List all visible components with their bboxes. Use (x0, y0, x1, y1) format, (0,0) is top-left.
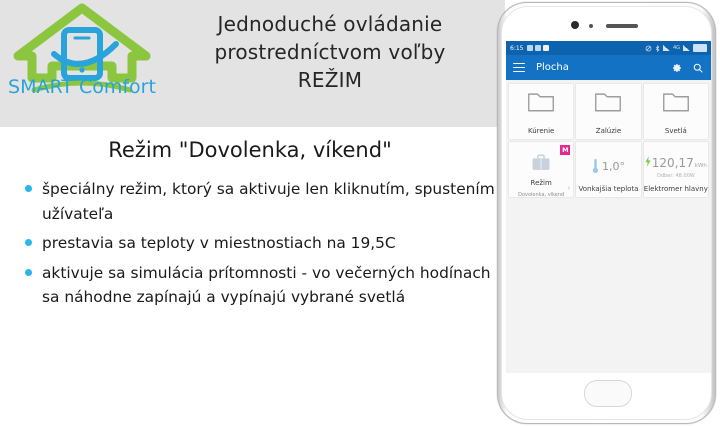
search-icon[interactable] (692, 62, 704, 74)
temperature-value: 1,0° (602, 160, 625, 173)
tile-elektromer[interactable]: 120,17 kWh Odber: 48.00W Elektromer hlav… (644, 142, 708, 197)
folder-icon (594, 90, 622, 114)
phone-mockup: 6:15 (497, 2, 716, 424)
network-type-label: 4G (673, 45, 680, 51)
temperature-readout: 1,0° (592, 158, 625, 174)
folder-icon (662, 90, 690, 114)
status-bar-system-icons: 4G (645, 44, 707, 52)
folder-icon (527, 90, 555, 114)
earpiece-speaker-icon (606, 24, 638, 28)
slide-title: Režim "Dovolenka, víkend" (0, 138, 500, 162)
front-camera-icon (571, 21, 579, 29)
tile-vonkajsia-teplota[interactable]: 1,0° Vonkajšia teplota (576, 142, 640, 197)
energy-readout: 120,17 kWh (645, 156, 707, 170)
tile-label: Elektromer hlavny (644, 185, 708, 193)
tile-label: Žalúzie (576, 127, 640, 135)
signal-bars-icon-secondary (683, 45, 690, 51)
presentation-slide: SMART Comfort Jednoduché ovládanie prost… (0, 0, 720, 426)
header-title-line2: prostredníctvom voľby (160, 38, 500, 66)
suitcase-icon (530, 153, 552, 173)
alarm-off-icon (645, 45, 652, 52)
list-item-text: aktivuje sa simulácia prítomnosti - vo v… (42, 264, 491, 307)
chevron-right-icon[interactable]: › (568, 184, 571, 192)
list-item: špeciálny režim, ktorý sa aktivuje len k… (22, 177, 500, 226)
header-title: Jednoduché ovládanie prostredníctvom voľ… (160, 10, 500, 94)
energy-sub-value: Odber: 48.00W (657, 173, 695, 179)
phone-screen: 6:15 (506, 41, 711, 373)
tile-kurenie[interactable]: Kúrenie (509, 84, 573, 139)
phone-top-bezel (502, 7, 711, 41)
calendar-notification-icon (543, 45, 549, 51)
bullet-dot-icon (25, 239, 32, 246)
home-button[interactable] (584, 380, 632, 407)
energy-unit: kWh (695, 163, 707, 169)
tile-grid: Kúrenie Žalúzie Svetlá (506, 80, 711, 197)
status-bar-notification-icons (527, 45, 549, 51)
tile-sublabel: Dovolenka, víkend (509, 192, 573, 198)
list-item: aktivuje sa simulácia prítomnosti - vo v… (22, 261, 500, 310)
bullet-list: špeciálny režim, ktorý sa aktivuje len k… (22, 177, 500, 315)
status-bar-time: 6:15 (510, 45, 523, 52)
thermometer-icon (592, 158, 599, 174)
phone-body: 6:15 (501, 6, 712, 420)
bullet-dot-icon (25, 185, 32, 192)
tile-row-folders: Kúrenie Žalúzie Svetlá (509, 84, 708, 139)
tile-label: Svetlá (644, 127, 708, 135)
logo-text: SMART Comfort (4, 76, 160, 98)
status-bar: 6:15 (506, 41, 711, 55)
gear-icon[interactable] (671, 62, 683, 74)
header-title-line1: Jednoduché ovládanie (160, 10, 500, 38)
logo: SMART Comfort (4, 2, 160, 106)
hamburger-menu-icon[interactable] (513, 63, 525, 73)
list-item-text: špeciálny režim, ktorý sa aktivuje len k… (42, 180, 495, 223)
bullet-dot-icon (25, 269, 32, 276)
tile-zaluzie[interactable]: Žalúzie (576, 84, 640, 139)
tile-label: Kúrenie (509, 127, 573, 135)
header-title-line3: REŽIM (160, 66, 500, 94)
bluetooth-icon (527, 45, 533, 51)
list-item-text: prestavia sa teploty v miestnostiach na … (42, 234, 396, 252)
list-item: prestavia sa teploty v miestnostiach na … (22, 231, 500, 256)
signal-bars-icon (663, 45, 670, 51)
proximity-sensor-icon (589, 24, 593, 28)
bluetooth-icon (655, 45, 660, 52)
app-notification-icon (535, 45, 541, 51)
tile-label: Vonkajšia teplota (576, 185, 640, 193)
tile-row-status: M Režim Dovolenka, víkend › (509, 142, 708, 197)
app-bar-title: Plocha (536, 62, 569, 73)
status-badge: M (560, 145, 570, 155)
tile-label: Režim (509, 179, 573, 187)
battery-icon (693, 44, 707, 52)
tile-rezim[interactable]: M Režim Dovolenka, víkend › (509, 142, 573, 197)
lightning-bolt-icon (645, 156, 651, 167)
tile-svetla[interactable]: Svetlá (644, 84, 708, 139)
energy-value: 120,17 (652, 156, 694, 170)
app-bar: Plocha (506, 55, 711, 80)
